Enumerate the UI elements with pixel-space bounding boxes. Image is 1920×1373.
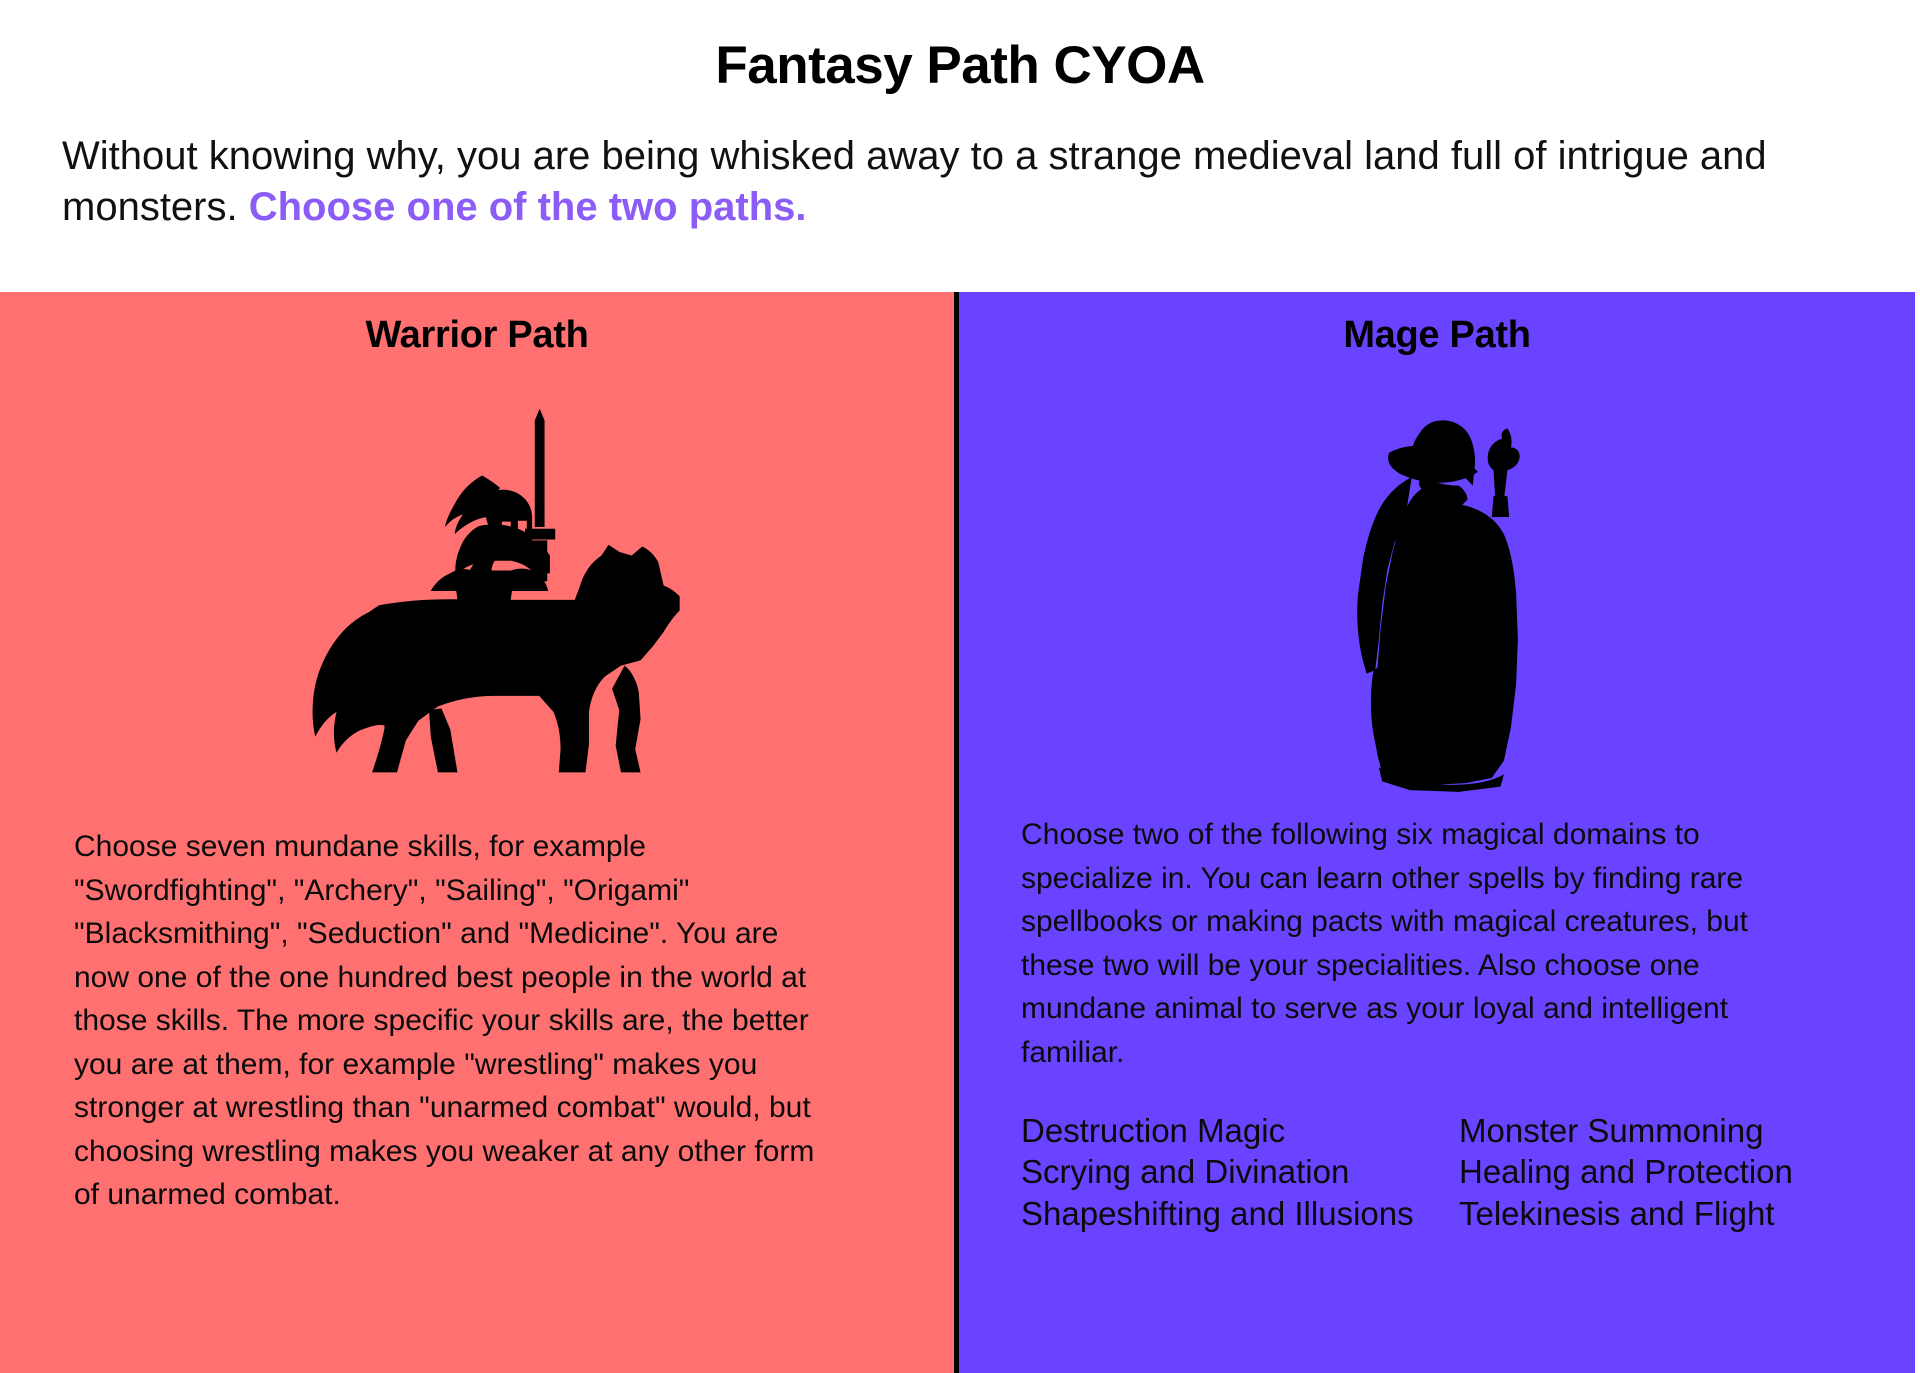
- domain-item[interactable]: Scrying and Divination: [1021, 1151, 1459, 1192]
- warrior-path-panel[interactable]: Warrior Path: [0, 292, 959, 1373]
- magic-domains-column-left: Destruction Magic Scrying and Divination…: [1021, 1110, 1459, 1234]
- magic-domains-list: Destruction Magic Scrying and Divination…: [959, 1074, 1915, 1234]
- warrior-path-description: Choose seven mundane skills, for example…: [0, 799, 820, 1217]
- cyoa-page: Fantasy Path CYOA Without knowing why, y…: [0, 0, 1920, 1373]
- domain-item[interactable]: Monster Summoning: [1459, 1110, 1879, 1151]
- magic-domains-column-right: Monster Summoning Healing and Protection…: [1459, 1110, 1879, 1234]
- page-subtitle: Without knowing why, you are being whisk…: [62, 97, 1858, 233]
- mage-path-panel[interactable]: Mage Path: [959, 292, 1915, 1373]
- page-header: Fantasy Path CYOA Without knowing why, y…: [0, 0, 1920, 292]
- warrior-path-title: Warrior Path: [0, 292, 954, 357]
- knight-on-horseback-icon: [0, 357, 954, 799]
- page-title: Fantasy Path CYOA: [62, 24, 1858, 97]
- path-panels: Warrior Path: [0, 292, 1920, 1373]
- subtitle-accent-text: Choose one of the two paths.: [249, 185, 807, 229]
- mage-path-description: Choose two of the following six magical …: [959, 799, 1759, 1074]
- domain-item[interactable]: Shapeshifting and Illusions: [1021, 1193, 1459, 1234]
- domain-item[interactable]: Destruction Magic: [1021, 1110, 1459, 1151]
- wizard-with-staff-icon: [959, 357, 1915, 799]
- mage-path-title: Mage Path: [959, 292, 1915, 357]
- domain-item[interactable]: Telekinesis and Flight: [1459, 1193, 1879, 1234]
- domain-item[interactable]: Healing and Protection: [1459, 1151, 1879, 1192]
